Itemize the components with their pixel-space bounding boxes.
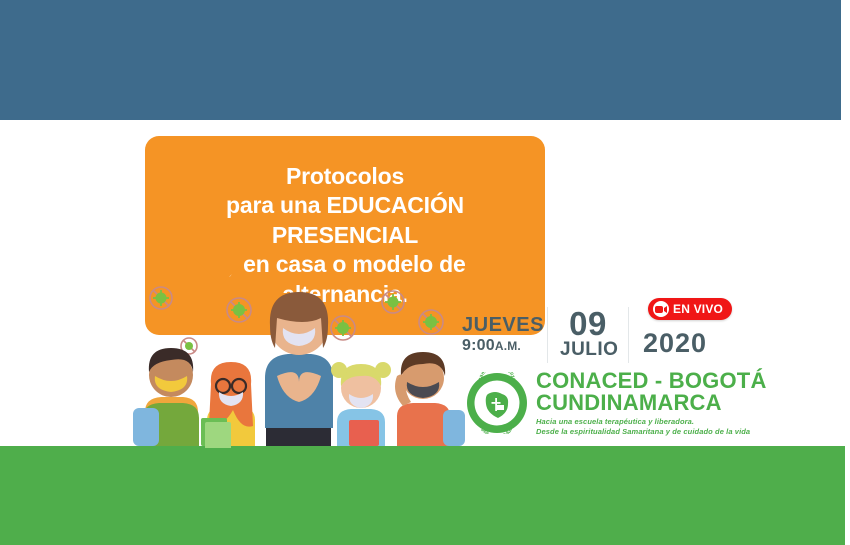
bottom-green-band bbox=[0, 446, 845, 545]
conaced-name-line-2: CUNDINAMARCA bbox=[536, 392, 767, 414]
event-month: JULIO bbox=[560, 340, 616, 361]
headline-line-1: Protocolos bbox=[165, 162, 525, 191]
event-weekday: JUEVES bbox=[462, 315, 535, 337]
event-time-value: 9:00 bbox=[462, 337, 495, 354]
conaced-brand-lockup: Educamos Evangelizando Evangelizamos Edu… bbox=[466, 368, 767, 437]
conaced-brand-text: CONACED - BOGOTÁ CUNDINAMARCA Hacia una … bbox=[536, 368, 767, 437]
video-camera-icon bbox=[653, 301, 669, 317]
conaced-tagline-line-2: Desde la espiritualidad Samaritana y de … bbox=[536, 427, 767, 437]
event-time: 9:00A.M. bbox=[462, 336, 535, 355]
top-blue-band bbox=[0, 0, 841, 120]
live-badge-label: EN VIVO bbox=[673, 302, 723, 316]
conaced-name-line-1: CONACED - BOGOTÁ bbox=[536, 370, 767, 392]
poster-stage: Protocolos para una EDUCACIÓN PRESENCIAL… bbox=[0, 0, 850, 545]
event-time-suffix: A.M. bbox=[495, 339, 521, 353]
headline-line-2: para una EDUCACIÓN PRESENCIAL bbox=[165, 191, 525, 250]
live-badge[interactable]: EN VIVO bbox=[648, 298, 732, 320]
conaced-tagline-line-1: Hacia una escuela terapéutica y liberado… bbox=[536, 417, 767, 427]
conaced-seal-icon: Educamos Evangelizando Evangelizamos Edu… bbox=[466, 372, 528, 434]
event-day-number: 09 bbox=[560, 309, 616, 339]
event-weekday-block: JUEVES 9:00A.M. bbox=[462, 315, 547, 356]
right-page-margin bbox=[845, 0, 850, 545]
masked-students-and-teacher-illustration bbox=[125, 278, 470, 448]
event-year: 2020 bbox=[643, 330, 729, 357]
event-date-block: 09 JULIO bbox=[548, 309, 628, 360]
